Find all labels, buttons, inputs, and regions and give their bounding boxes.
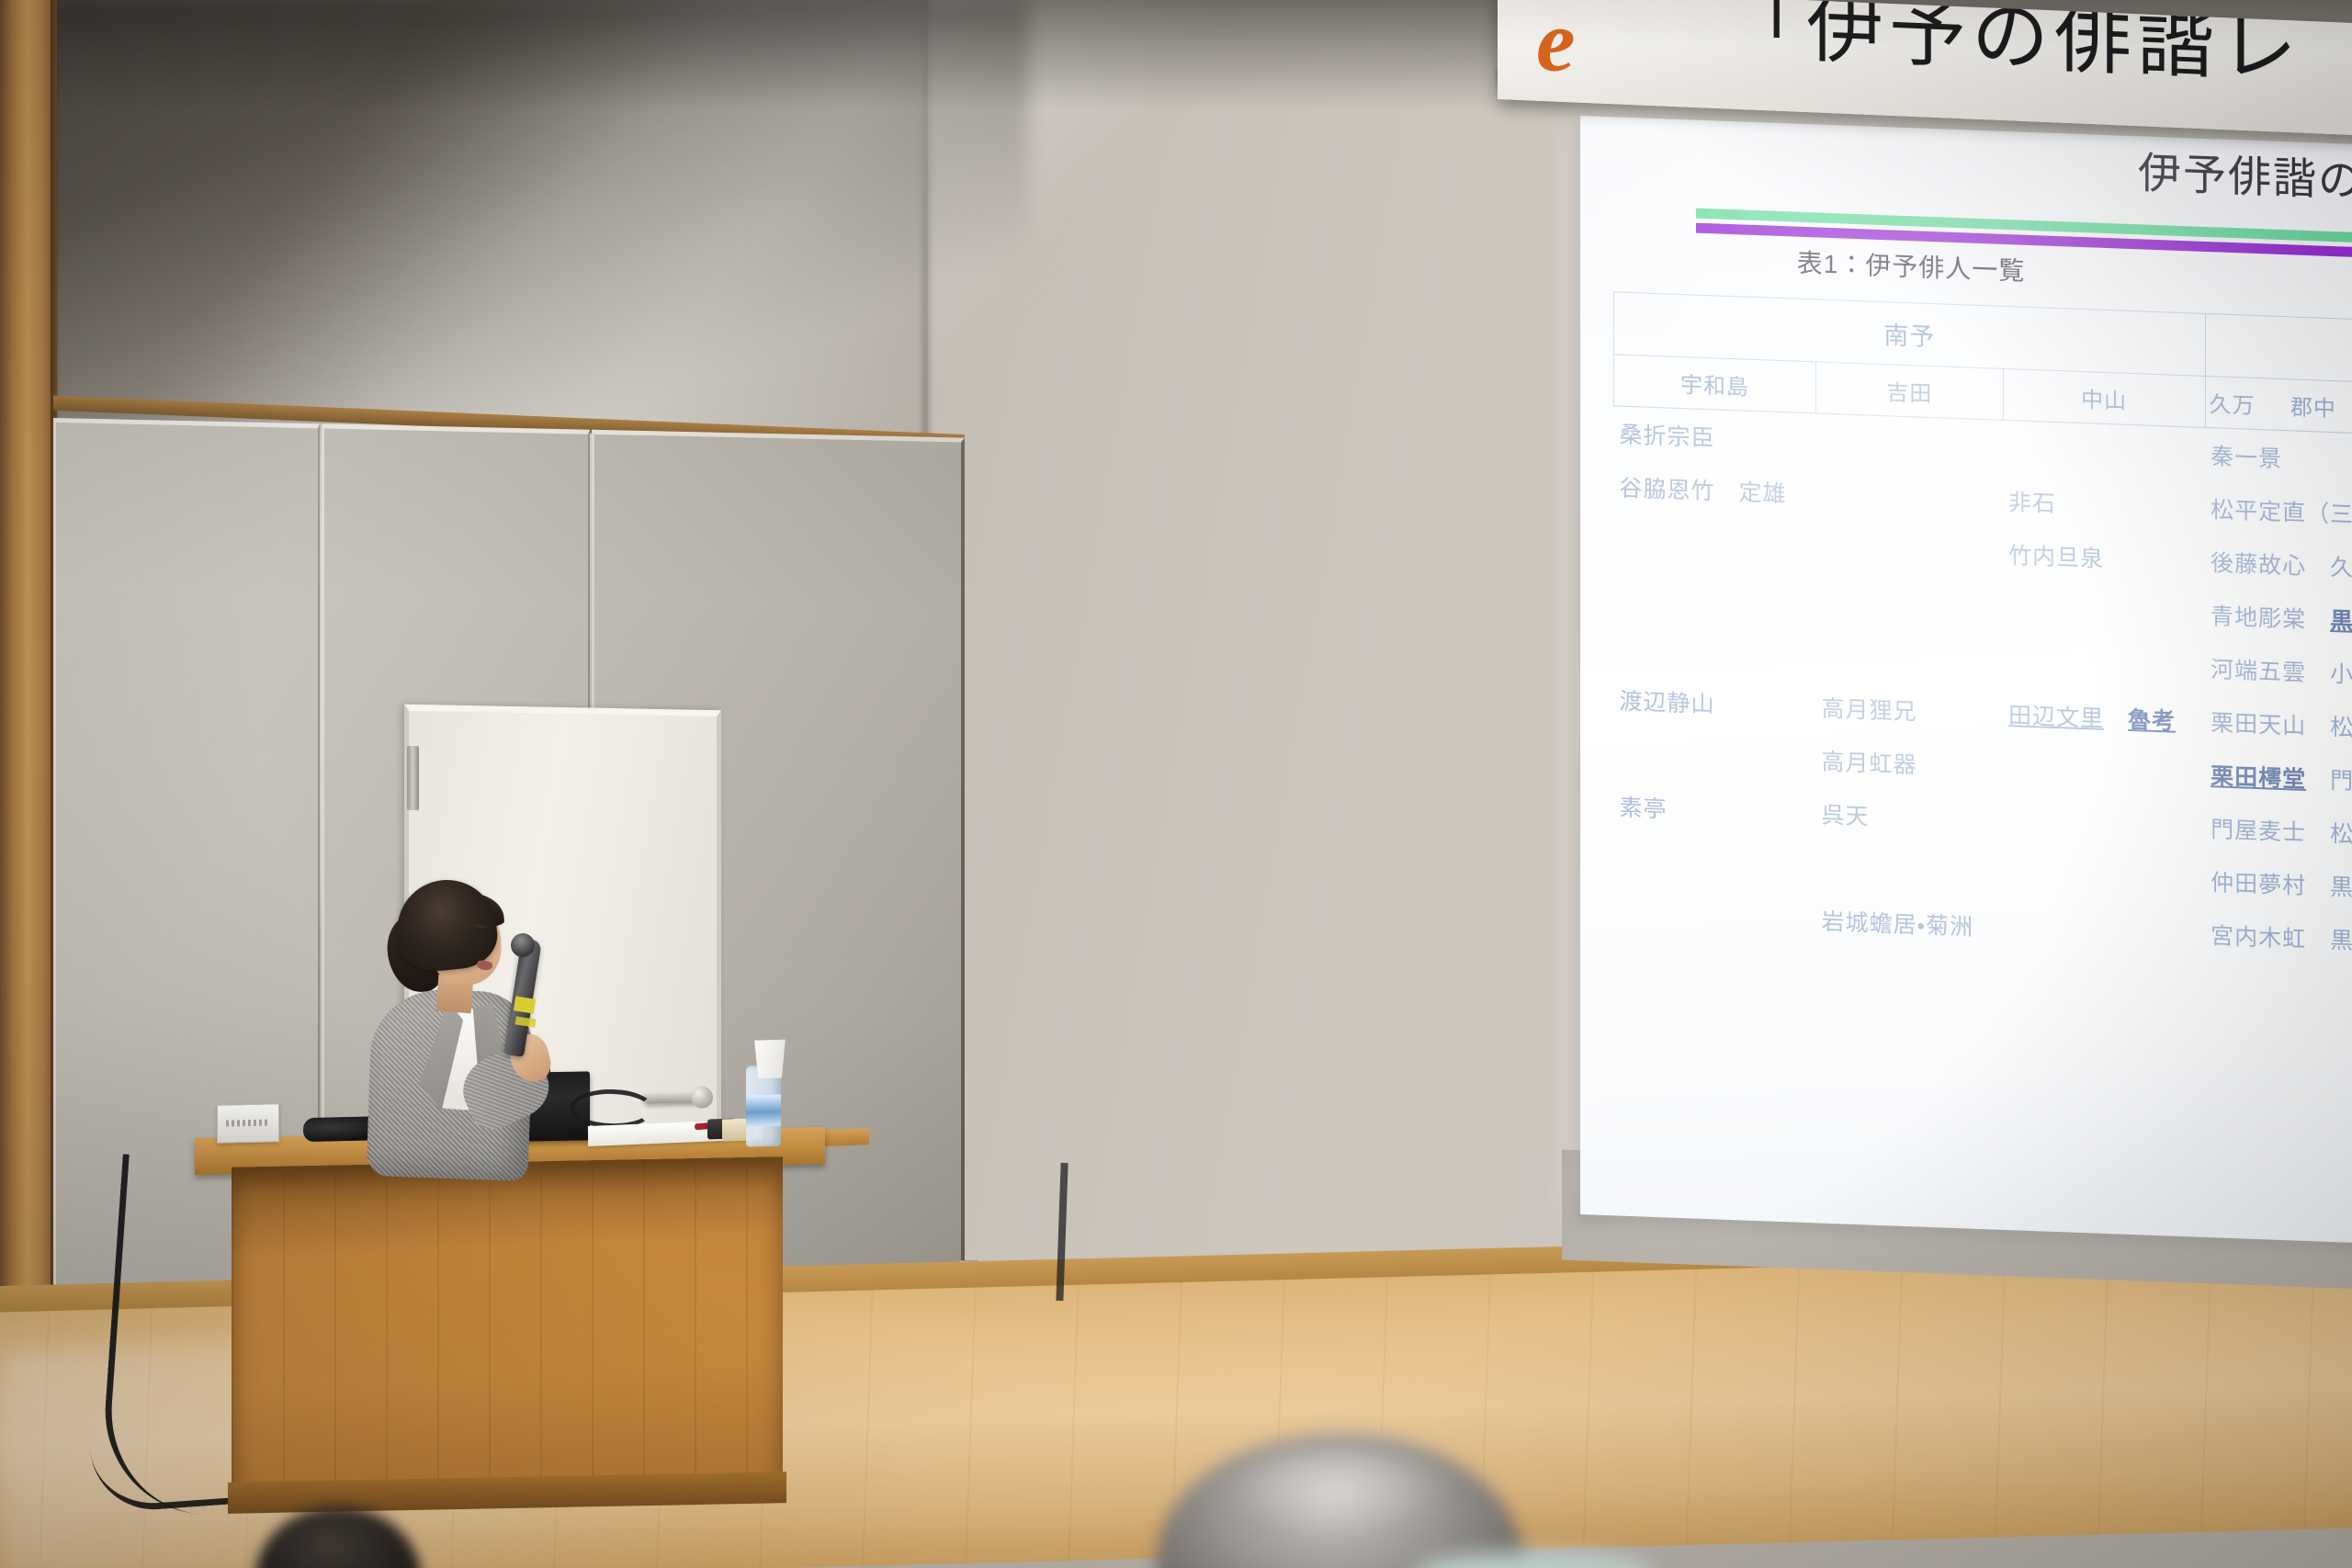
haijin-name: 呉天 xyxy=(1822,797,1870,832)
haijin-name: 青地彫棠 xyxy=(2211,598,2306,635)
city-header-gunchu: 郡中 xyxy=(2290,395,2336,422)
cell-uwajima xyxy=(1614,513,1816,573)
cell-uwajima xyxy=(1614,619,1816,680)
cell-yoshida: 高月虹器 xyxy=(1816,733,2004,793)
haijin-name: 黒田白年 xyxy=(2330,869,2352,906)
haijin-name: 河端五雲 xyxy=(2211,651,2306,688)
cell-uwajima xyxy=(1614,832,1816,893)
haijin-name: 桑折宗臣 xyxy=(1620,417,1715,454)
haijin-name: 宮内木虹 xyxy=(2211,918,2306,954)
cell-yoshida: 高月狸兄 xyxy=(1816,680,2004,739)
city-header-uwajima: 宇和島 xyxy=(1614,355,1816,413)
cell-yoshida xyxy=(1816,840,2004,899)
water-bottle-label xyxy=(746,1095,781,1127)
haijin-name: 渡辺静山 xyxy=(1620,683,1715,720)
haijin-name: 門屋麦士 xyxy=(2211,811,2306,848)
haijin-name: 久松粛山 xyxy=(2330,549,2352,586)
haijin-name: 栗田天山 xyxy=(2211,705,2306,741)
cell-nakayama xyxy=(2003,740,2205,801)
presenter xyxy=(349,873,652,1176)
lecture-hall-photo: 伊予俳諧の 表1：伊予俳人一覧 南予 中予 宇和島 吉田 中山 久万 xyxy=(0,0,2352,1568)
haijin-name: 黒田青菱 xyxy=(2330,922,2352,959)
cell-uwajima xyxy=(1614,566,1816,626)
cell-nakayama xyxy=(2003,794,2205,854)
cell-uwajima: 渡辺静山 xyxy=(1614,672,1816,733)
haijin-name: 松平定直（三嘯） xyxy=(2211,491,2352,532)
cell-yoshida xyxy=(1816,626,2004,686)
projection-screen: 伊予俳諧の 表1：伊予俳人一覧 南予 中予 宇和島 吉田 中山 久万 xyxy=(1580,116,2352,1244)
haijin-name: 松田含芽 xyxy=(2330,709,2352,746)
haijin-name: 高月狸兄 xyxy=(1822,691,1917,728)
haijin-name: 黒星乃翁 xyxy=(2330,603,2352,639)
banner-logo-icon: e xyxy=(1536,0,1576,86)
cell-nakayama: 竹内旦泉 xyxy=(2003,527,2205,588)
cell-nakayama xyxy=(2003,581,2205,641)
cell-yoshida: 呉天 xyxy=(1816,786,2004,846)
microphone-band xyxy=(514,996,536,1013)
cell-nakayama xyxy=(2003,634,2205,694)
haijin-name: 素亭 xyxy=(1620,790,1668,825)
haijin-name: 松田三千雄 xyxy=(2330,816,2352,853)
wooden-pillar xyxy=(0,0,57,1433)
haijin-name: 田辺文里 xyxy=(2008,697,2104,734)
slide-title: 伊予俳諧の xyxy=(1580,129,2352,205)
cell-uwajima xyxy=(1614,886,1816,946)
haijin-name: 小倉志山 xyxy=(2330,656,2352,693)
haijin-name: 栗田樗堂 xyxy=(2211,758,2306,795)
haijin-name: 竹内旦泉 xyxy=(2008,537,2104,574)
cell-nakayama xyxy=(2003,420,2205,481)
haijin-table: 南予 中予 宇和島 吉田 中山 久万 郡中 松山 xyxy=(1613,291,2352,975)
cell-yoshida xyxy=(1816,467,2004,526)
haijin-name: 門田兎文 xyxy=(2330,762,2352,799)
cell-uwajima xyxy=(1614,726,1816,786)
haijin-name: 後藤故心 xyxy=(2211,545,2306,581)
haijin-name: 秦一景 xyxy=(2211,438,2282,474)
projected-slide: 伊予俳諧の 表1：伊予俳人一覧 南予 中予 宇和島 吉田 中山 久万 xyxy=(1580,116,2352,1244)
cell-nakayama: 田辺文里魯考 xyxy=(2003,687,2205,748)
cell-nakayama xyxy=(2003,900,2205,961)
haijin-name: 仲田夢村 xyxy=(2211,864,2306,901)
city-header-yoshida: 吉田 xyxy=(1816,362,2004,420)
haijin-name: 谷脇恩竹 定雄 xyxy=(1620,470,1787,510)
cell-uwajima: 桑折宗臣 xyxy=(1614,406,1816,468)
haijin-name: 非石 xyxy=(2008,484,2056,519)
cell-uwajima: 谷脇恩竹 定雄 xyxy=(1614,459,1816,520)
haijin-name: 高月虹器 xyxy=(1822,744,1917,781)
cell-chuyo: 宮内木虹黒田青菱大原其戎 xyxy=(2205,908,2352,975)
podium-front-panel xyxy=(232,1156,783,1512)
cell-nakayama: 非石 xyxy=(2003,474,2205,535)
haijin-name: 魯考 xyxy=(2128,702,2176,737)
cell-yoshida xyxy=(1816,573,2004,633)
cell-yoshida xyxy=(1816,413,2004,474)
cell-uwajima: 素亭 xyxy=(1614,779,1816,840)
haijin-name: 岩城蟾居・菊洲 xyxy=(1822,904,1974,942)
city-header-kuma: 久万 xyxy=(2210,392,2256,419)
city-header-nakayama: 中山 xyxy=(2003,368,2205,427)
haijin-table-body: 桑折宗臣秦一景谷脇恩竹 定雄非石松平定直（三嘯）江竹内旦泉後藤故心久松粛山野口李… xyxy=(1614,406,2352,975)
door-hinge xyxy=(407,746,419,810)
cell-nakayama xyxy=(2003,847,2205,908)
cell-yoshida xyxy=(1816,520,2004,580)
audience-head-right-highlight xyxy=(1222,1453,1452,1536)
nameplate-card xyxy=(217,1103,279,1143)
cell-yoshida: 岩城蟾居・菊洲 xyxy=(1816,893,2004,953)
